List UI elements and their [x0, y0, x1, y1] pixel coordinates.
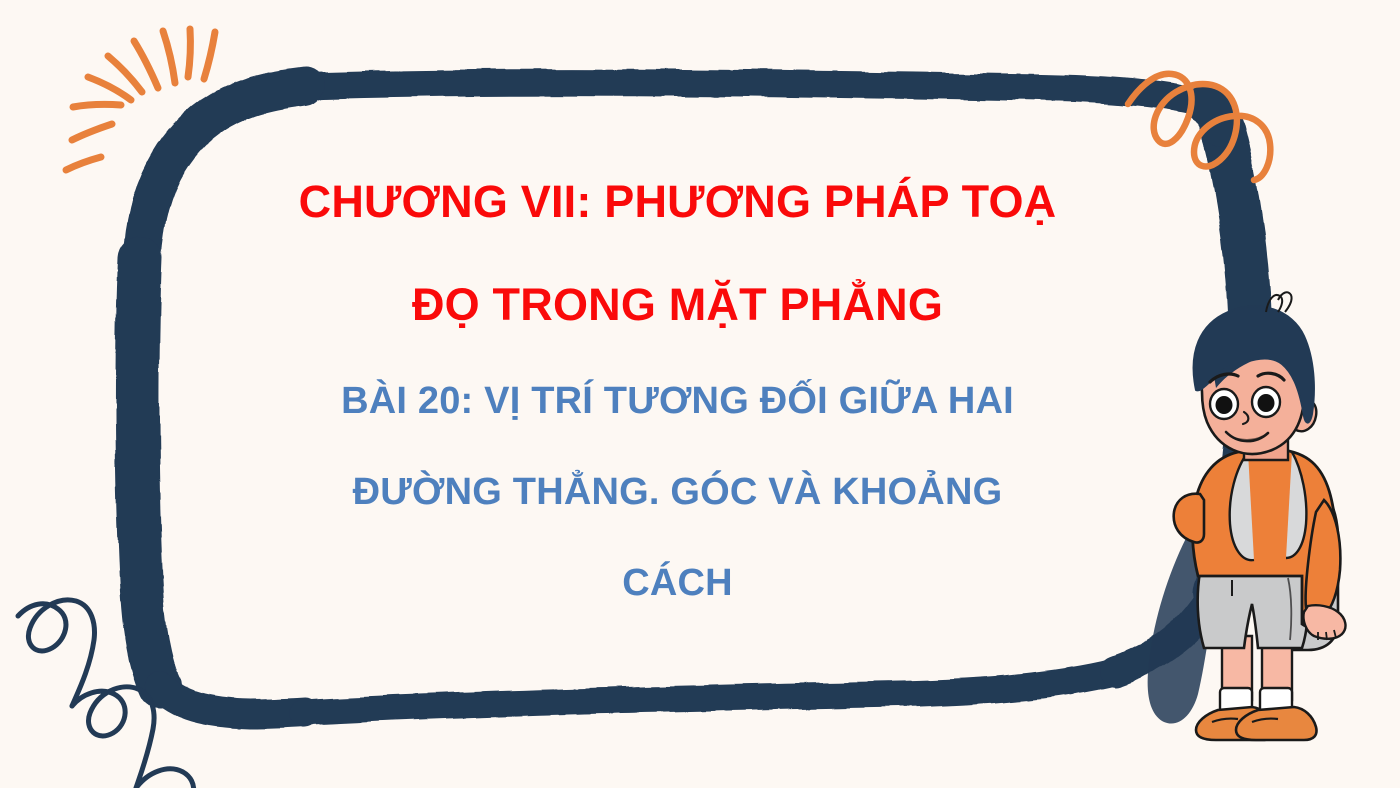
slide-canvas: CHƯƠNG VII: PHƯƠNG PHÁP TOẠ ĐỌ TRONG MẶT…	[0, 0, 1400, 788]
orange-wavy-squiggle	[0, 0, 1400, 788]
